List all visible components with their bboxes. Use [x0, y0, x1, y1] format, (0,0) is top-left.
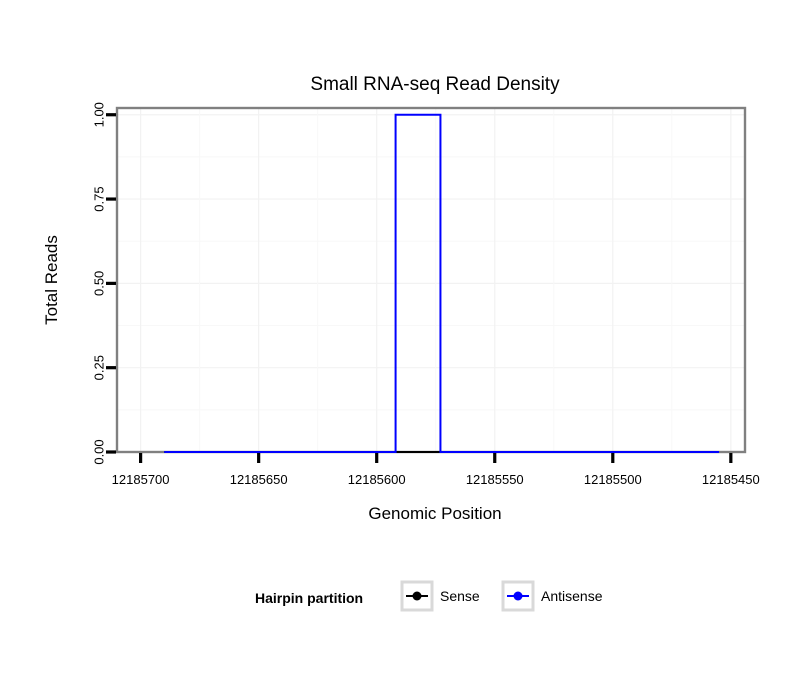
read-density-chart: Small RNA-seq Read Density 1218570012185…: [0, 0, 810, 690]
y-tick-label: 0.25: [92, 355, 107, 380]
legend-key-point: [514, 592, 523, 601]
legend-key-point: [413, 592, 422, 601]
x-tick-label: 12185450: [702, 472, 760, 487]
x-tick-label: 12185650: [230, 472, 288, 487]
legend-entry-label: Antisense: [541, 588, 603, 604]
y-tick-label: 0.50: [92, 271, 107, 296]
chart-container: Small RNA-seq Read Density 1218570012185…: [0, 0, 810, 690]
chart-title: Small RNA-seq Read Density: [310, 74, 560, 95]
legend-title: Hairpin partition: [255, 590, 363, 606]
x-axis-title: Genomic Position: [368, 504, 501, 523]
y-tick-label: 1.00: [92, 102, 107, 127]
legend-entry-label: Sense: [440, 588, 480, 604]
y-tick-label: 0.00: [92, 439, 107, 464]
grid-lines: [117, 108, 745, 452]
x-tick-label: 12185500: [584, 472, 642, 487]
x-tick-label: 12185550: [466, 472, 524, 487]
y-tick-label: 0.75: [92, 186, 107, 211]
x-tick-label: 12185600: [348, 472, 406, 487]
y-axis-title: Total Reads: [42, 235, 61, 325]
panel-background: [117, 108, 745, 452]
x-tick-label: 12185700: [112, 472, 170, 487]
